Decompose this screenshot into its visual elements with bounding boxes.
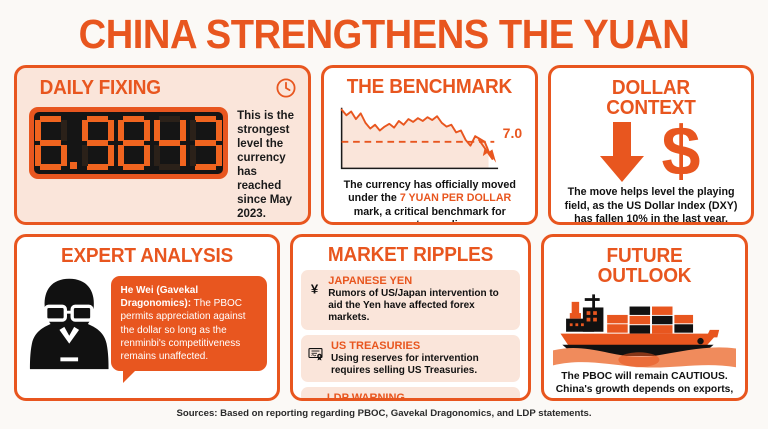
daily-fixing-heading: DAILY FIXING	[40, 78, 290, 98]
ripple-heading: LDP WARNING	[327, 392, 513, 401]
card-future-outlook: FUTURE OUTLOOK	[541, 234, 748, 401]
yen-symbol-icon: ¥	[308, 275, 321, 303]
daily-fixing-note: This is the strongest level the currency…	[237, 107, 296, 221]
led-digit	[34, 115, 68, 171]
ripple-heading: JAPANESE YEN	[328, 275, 513, 287]
warning-triangle-icon	[308, 392, 320, 401]
led-digit	[153, 115, 187, 171]
future-caption-before: The PBOC will remain	[561, 371, 671, 382]
person-with-glasses-avatar	[27, 272, 111, 374]
led-display: 6.9843	[34, 112, 223, 174]
expert-analysis-heading: EXPERT ANALYSIS	[33, 246, 261, 266]
clock-icon	[275, 77, 297, 104]
benchmark-caption: The currency has officially moved under …	[334, 179, 525, 225]
ripple-item-us-treasuries: US TREASURIES Using reserves for interve…	[301, 335, 520, 382]
future-outlook-art	[553, 286, 736, 370]
ripple-text: Using reserves for intervention requires…	[331, 353, 513, 377]
cards-row-top: DAILY FIXING	[14, 65, 754, 225]
ripple-item-japanese-yen: ¥ JAPANESE YEN Rumors of US/Japan interv…	[301, 270, 520, 330]
cards-row-bottom: EXPERT ANALYSIS He Wei (Gavekal Dragonom…	[14, 234, 754, 401]
infographic-page: CHINA STRENGTHENS THE YUAN DAILY FIXING	[0, 0, 768, 429]
future-outlook-caption: The PBOC will remain CAUTIOUS. China's g…	[553, 370, 736, 401]
dollar-context-heading: DOLLAR CONTEXT	[566, 78, 737, 118]
benchmark-caption-after: mark, a critical benchmark for monetary …	[354, 206, 506, 225]
certificate-icon	[308, 340, 324, 368]
svg-text:¥: ¥	[311, 282, 319, 297]
dollar-context-art: $	[561, 118, 741, 186]
benchmark-reference-label: 7.0	[503, 125, 522, 141]
benchmark-heading: THE BENCHMARK	[339, 77, 520, 97]
container-ship-icon	[553, 286, 736, 370]
expert-analysis-body: He Wei (Gavekal Dragonomics): The PBOC p…	[27, 272, 267, 374]
dollar-sign-icon: $	[655, 118, 707, 186]
svg-text:$: $	[662, 118, 701, 186]
led-digit	[117, 115, 151, 171]
ripple-text: Rumors of US/Japan intervention to aid t…	[328, 288, 513, 325]
card-dollar-context: DOLLAR CONTEXT $ The move helps level th…	[548, 65, 754, 225]
expert-quote-source: He Wei (Gavekal Dragonomics):	[120, 285, 198, 309]
page-title: CHINA STRENGTHENS THE YUAN	[40, 0, 728, 65]
led-display-frame: 6.9843	[29, 107, 228, 179]
daily-fixing-body: 6.9843 This is the strongest level the c…	[29, 107, 296, 221]
future-outlook-heading: FUTURE OUTLOOK	[558, 246, 732, 286]
down-arrow-icon	[595, 120, 649, 184]
ripple-heading: US TREASURIES	[331, 340, 513, 352]
card-benchmark: THE BENCHMARK 7.0 The currency has offic…	[321, 65, 538, 225]
card-expert-analysis: EXPERT ANALYSIS He Wei (Gavekal Dragonom…	[14, 234, 280, 401]
benchmark-caption-highlight: 7 YUAN PER DOLLAR	[400, 192, 511, 204]
card-daily-fixing: DAILY FIXING	[14, 65, 311, 225]
market-ripples-heading: MARKET RIPPLES	[306, 245, 514, 265]
expert-quote-bubble: He Wei (Gavekal Dragonomics): The PBOC p…	[111, 276, 267, 371]
future-caption-bold: CAUTIOUS	[671, 371, 725, 382]
ripple-item-ldp-warning: LDP WARNING Takayuki Kobayashi warns tha…	[301, 387, 520, 401]
led-digit	[81, 115, 115, 171]
card-market-ripples: MARKET RIPPLES ¥ JAPANESE YEN Rumors of …	[290, 234, 531, 401]
sources-footer: Sources: Based on reporting regarding PB…	[14, 408, 754, 419]
led-digit	[189, 115, 223, 171]
led-decimal-point	[70, 115, 79, 171]
dollar-context-caption: The move helps level the playing field, …	[561, 186, 741, 225]
